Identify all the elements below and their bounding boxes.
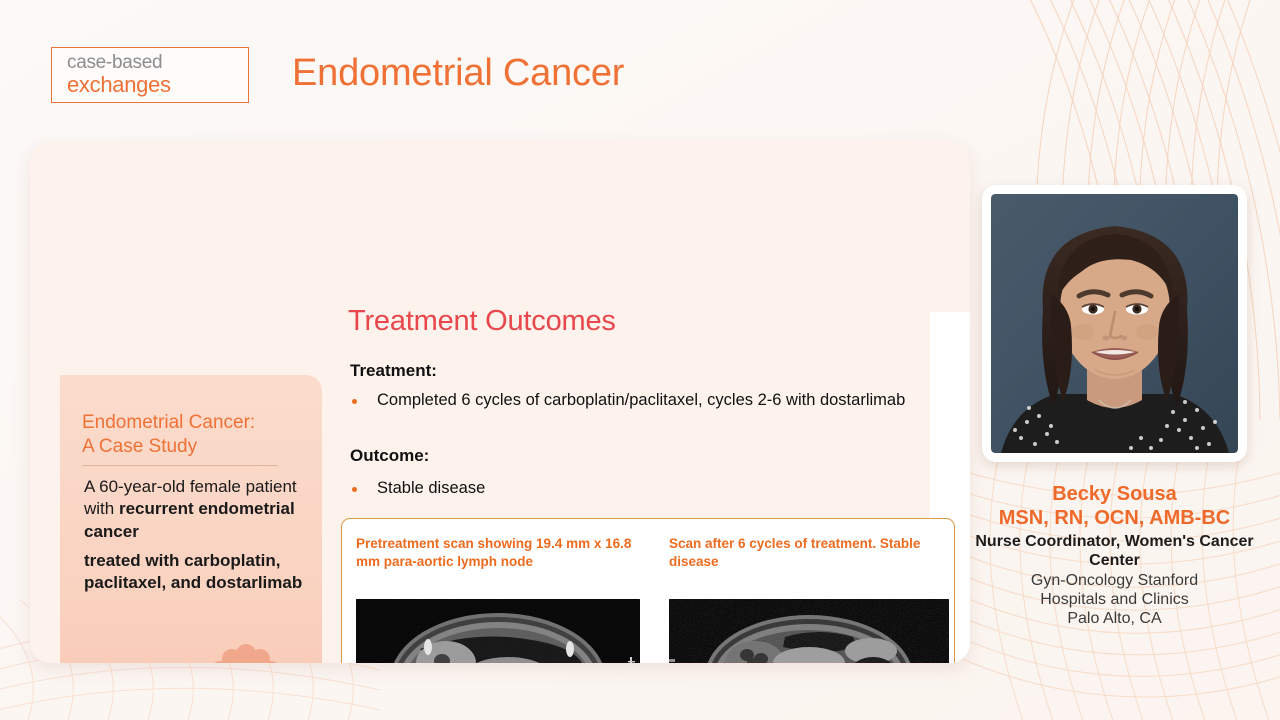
scan-column-pretreatment: Pretreatment scan showing 19.4 mm x 16.8…: [356, 535, 640, 663]
sidebar-divider: [82, 465, 278, 466]
speaker-info: Becky Sousa MSN, RN, OCN, AMB-BC Nurse C…: [962, 483, 1267, 628]
speaker-org-line-1: Gyn-Oncology Stanford: [962, 571, 1267, 590]
slide-root: case-based exchanges Endometrial Cancer …: [0, 0, 1280, 720]
speaker-org-line-2: Hospitals and Clinics: [962, 590, 1267, 609]
sidebar-title-line1: Endometrial Cancer:: [82, 412, 255, 433]
case-study-sidebar: Endometrial Cancer: A Case Study A 60-ye…: [60, 375, 322, 663]
speaker-role: Nurse Coordinator, Women's Cancer Center: [962, 532, 1267, 570]
content-card: Endometrial Cancer: A Case Study A 60-ye…: [30, 142, 970, 663]
page-title: Endometrial Cancer: [292, 52, 624, 95]
sidebar-body: A 60-year-old female patient with recurr…: [84, 476, 319, 594]
treatment-label: Treatment:: [350, 361, 437, 381]
scan-caption-pretreatment: Pretreatment scan showing 19.4 mm x 16.8…: [356, 535, 640, 591]
scan-column-posttreatment: Scan after 6 cycles of treatment. Stable…: [669, 535, 953, 663]
outcome-bullet-item: Stable disease: [352, 478, 752, 499]
person-silhouette-icon: [180, 640, 310, 663]
sidebar-title-line2: A Case Study: [82, 436, 197, 457]
speaker-credentials: MSN, RN, OCN, AMB-BC: [962, 507, 1267, 531]
outcome-bullet-text: Stable disease: [377, 478, 485, 499]
speaker-org-line-3: Palo Alto, CA: [962, 609, 1267, 628]
scan-comparison-box: Pretreatment scan showing 19.4 mm x 16.8…: [341, 518, 955, 663]
speaker-portrait: [991, 194, 1238, 453]
sidebar-body-bold-2: treated with carboplatin, paclitaxel, an…: [84, 551, 302, 592]
ct-scan-posttreatment[interactable]: [669, 599, 949, 663]
speaker-portrait-frame: [982, 185, 1247, 462]
section-title: Treatment Outcomes: [348, 305, 616, 338]
treatment-bullet-item: Completed 6 cycles of carboplatin/paclit…: [352, 390, 932, 411]
treatment-bullet-text: Completed 6 cycles of carboplatin/paclit…: [377, 390, 905, 411]
logo-line-1: case-based: [67, 53, 248, 73]
speaker-name: Becky Sousa: [962, 483, 1267, 507]
bullet-dot-icon: [352, 487, 357, 492]
logo-line-2: exchanges: [67, 73, 248, 96]
scan-caption-posttreatment: Scan after 6 cycles of treatment. Stable…: [669, 535, 953, 591]
outcome-label: Outcome:: [350, 446, 429, 466]
ct-scan-pretreatment[interactable]: [356, 599, 640, 663]
brand-logo: case-based exchanges: [51, 47, 249, 103]
bullet-dot-icon: [352, 399, 357, 404]
sidebar-title: Endometrial Cancer: A Case Study: [82, 411, 302, 460]
